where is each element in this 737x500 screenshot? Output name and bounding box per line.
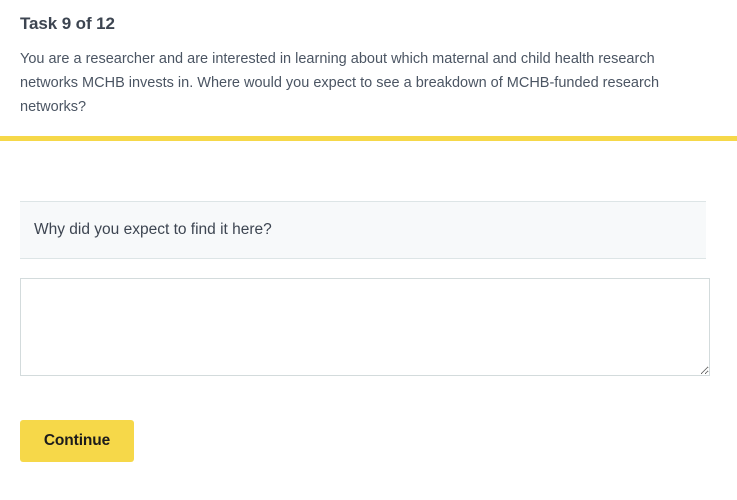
question-block: Why did you expect to find it here?	[20, 201, 717, 376]
question-label-text: Why did you expect to find it here?	[34, 219, 272, 241]
task-survey-page: Task 9 of 12 You are a researcher and ar…	[0, 0, 737, 500]
answer-textarea[interactable]	[20, 278, 710, 376]
button-row: Continue	[20, 376, 717, 462]
task-header: Task 9 of 12 You are a researcher and ar…	[0, 0, 737, 119]
question-label: Why did you expect to find it here?	[20, 201, 706, 259]
continue-button[interactable]: Continue	[20, 420, 134, 462]
task-description: You are a researcher and are interested …	[20, 35, 672, 119]
page-title: Task 9 of 12	[20, 0, 717, 35]
divider	[0, 136, 737, 141]
